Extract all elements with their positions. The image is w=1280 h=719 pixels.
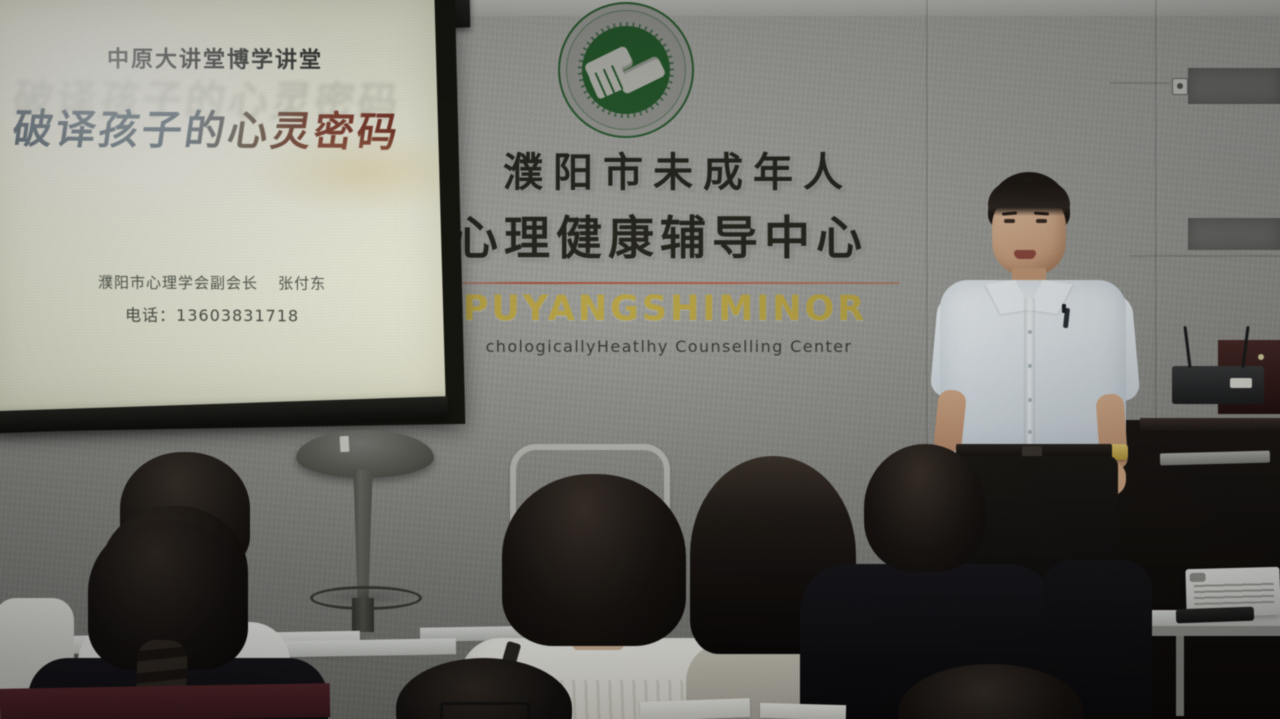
sign-english-subtitle: chologicallyHeatlhy Counselling Center [418,337,938,356]
sign-divider-rule [440,282,900,284]
stool-base [352,598,374,632]
wall-bracket [1172,78,1188,95]
sign-line-2: 心理健康辅导中心 [418,202,938,268]
presenter-name: 张付东 [278,274,326,292]
projector-lens [1189,573,1205,582]
slide-title-calligraphy: 破译孩子的心灵密码 [9,96,404,157]
projection-screen: 中原大讲堂博学讲堂 破译孩子的心灵密码 破译孩子的心灵密码 濮阳市心理学会副会长… [0,0,446,416]
handshake-circle-logo [558,2,694,138]
slide-heading: 中原大讲堂博学讲堂 [107,41,323,74]
pen-icon [1062,304,1066,313]
shirt-button [1028,364,1032,368]
stool-column [348,470,378,602]
wall-sign: 濮阳市未成年人 心理健康辅导中心 PUYANGSHIMINOR chologic… [418,0,938,372]
wall-panel [1188,218,1280,250]
head [864,444,986,572]
slide-footer: 濮阳市心理学会副会长张付东 电话：13603831718 [0,271,442,327]
sign-line-1: 濮阳市未成年人 [418,140,938,198]
shirt-button [1028,398,1032,402]
wall-seam-horizontal [1110,82,1170,84]
audience-member [396,658,572,719]
paper-sheet [760,703,846,719]
lecture-hall-photo: 濮阳市未成年人 心理健康辅导中心 PUYANGSHIMINOR chologic… [0,0,1280,719]
shirt-button [1028,430,1032,434]
presenter-role: 濮阳市心理学会副会长 [98,273,258,292]
indicator-light [1258,354,1264,360]
wall-panel [1188,68,1280,104]
projector-vents [1194,581,1275,605]
speaker-eye [1036,219,1047,223]
floor-strip [0,683,330,719]
shirt-button [1028,330,1032,334]
slide-presenter-line: 濮阳市心理学会副会长张付东 [0,271,442,294]
hair [502,474,686,646]
wireless-router [1172,366,1264,404]
glasses-icon [440,702,530,719]
desk-top-edge [1140,418,1280,430]
speaker-hair-front [988,182,1070,216]
audience-member [898,664,1084,719]
projector-mount [1176,607,1254,624]
sign-english-caps: PUYANGSHIMINOR [418,289,938,329]
table-leg [1176,636,1184,716]
head [898,664,1084,719]
stool-label-tag [340,436,350,452]
speaker-mouth [1014,250,1036,259]
slide-phone-line: 电话：13603831718 [0,301,442,327]
router-led-strip [1230,378,1252,388]
slide-content: 中原大讲堂博学讲堂 破译孩子的心灵密码 破译孩子的心灵密码 濮阳市心理学会副会长… [0,0,444,415]
speaker-eye [1004,219,1015,223]
paper-sheet [640,698,751,719]
